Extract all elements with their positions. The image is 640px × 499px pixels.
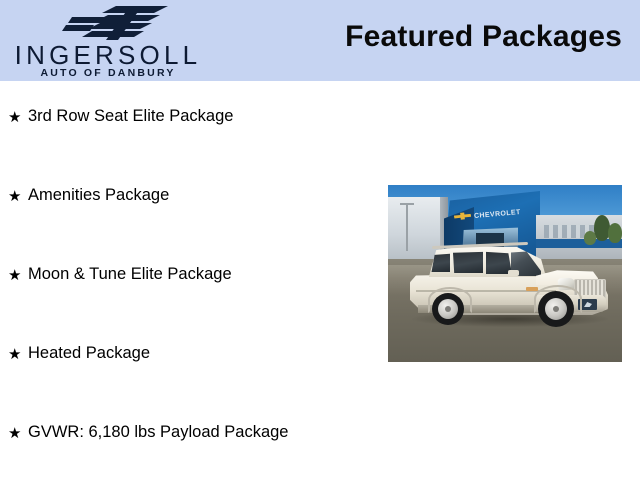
star-bullet-icon: ★	[8, 110, 21, 125]
side-mirror	[508, 270, 519, 276]
vehicle-photo: CHEVROLET	[388, 185, 622, 362]
dealer-tagline: AUTO OF DANBURY	[10, 68, 206, 79]
dealer-wordmark: INGERSOLL	[10, 42, 206, 68]
list-item: ★ Amenities Package	[0, 183, 380, 262]
suv-vehicle	[406, 237, 612, 333]
list-item-label: Moon & Tune Elite Package	[28, 265, 232, 285]
list-item: ★ 3rd Row Seat Elite Package	[0, 104, 380, 183]
vehicle-photo-scene: CHEVROLET	[388, 185, 622, 362]
rear-door-window	[453, 251, 483, 273]
ingersoll-wing-emblem-icon	[56, 5, 174, 41]
page-title: Featured Packages	[345, 20, 622, 54]
dealer-logo: INGERSOLL AUTO OF DANBURY	[4, 2, 209, 80]
list-item-label: Amenities Package	[28, 186, 169, 206]
star-bullet-icon: ★	[8, 426, 21, 441]
star-bullet-icon: ★	[8, 189, 21, 204]
list-item-label: Heated Package	[28, 344, 150, 364]
rear-hub-cap	[445, 306, 451, 312]
star-bullet-icon: ★	[8, 268, 21, 283]
list-item: ★ Moon & Tune Elite Package	[0, 262, 380, 341]
side-marker-light	[526, 287, 538, 291]
list-item: ★ Heated Package	[0, 341, 380, 420]
featured-packages-list: ★ 3rd Row Seat Elite Package ★ Amenities…	[0, 104, 380, 499]
list-item-label: 3rd Row Seat Elite Package	[28, 107, 233, 127]
list-item-label: GVWR: 6,180 lbs Payload Package	[28, 423, 288, 443]
light-pole-arm	[400, 203, 414, 205]
list-item: ★ GVWR: 6,180 lbs Payload Package	[0, 420, 380, 499]
star-bullet-icon: ★	[8, 347, 21, 362]
front-hub-cap	[553, 306, 559, 312]
slide-header-banner: INGERSOLL AUTO OF DANBURY Featured Packa…	[0, 0, 640, 81]
